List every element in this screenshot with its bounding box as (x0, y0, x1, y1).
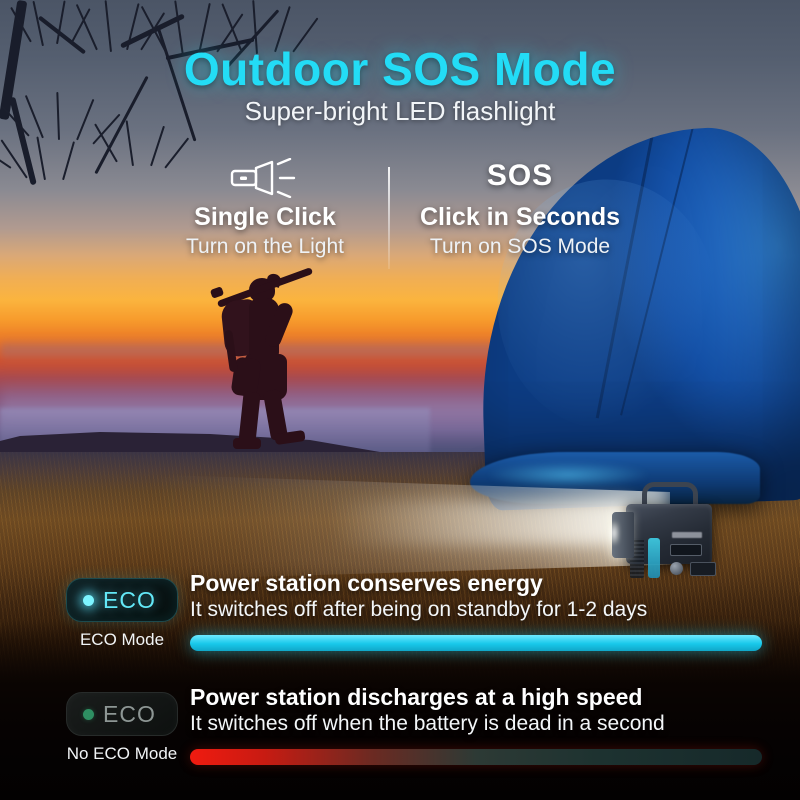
badge-label-text: ECO (103, 587, 156, 614)
discharge-progress-bar (190, 749, 762, 765)
station-body (626, 504, 712, 564)
eco-badge-caption: No ECO Mode (46, 744, 198, 764)
eco-progress-bar (190, 635, 762, 651)
eco-row-title: Power station discharges at a high speed (190, 684, 642, 711)
eco-mode-row: ECO ECO Mode Power station conserves ene… (0, 568, 800, 683)
station-led-lamp (612, 512, 634, 558)
led-beam-core (330, 500, 630, 546)
mode-sos-click: SOS Click in Seconds Turn on SOS Mode (370, 155, 670, 259)
station-brand-logo (672, 532, 702, 538)
eco-badge-caption: ECO Mode (46, 630, 198, 650)
sos-text-icon: SOS (370, 155, 670, 201)
eco-badge-off[interactable]: ECO (66, 692, 178, 736)
mode-instructions: Single Click Turn on the Light SOS Click… (0, 155, 800, 280)
mode-description: Turn on SOS Mode (370, 235, 670, 259)
status-dot-icon (83, 595, 94, 606)
portable-power-station (612, 482, 720, 566)
no-eco-mode-row: ECO No ECO Mode Power station discharges… (0, 682, 800, 797)
status-dot-icon (83, 709, 94, 720)
eco-badge-on[interactable]: ECO (66, 578, 178, 622)
hiker-silhouette (205, 272, 335, 454)
eco-row-title: Power station conserves energy (190, 570, 543, 597)
badge-label-text: ECO (103, 701, 156, 728)
station-display-screen (670, 544, 702, 556)
eco-row-description: It switches off after being on standby f… (190, 598, 647, 622)
product-feature-poster: Outdoor SOS Mode Super-bright LED flashl… (0, 0, 800, 800)
mode-heading: Click in Seconds (370, 203, 670, 232)
page-subtitle: Super-bright LED flashlight (0, 96, 800, 127)
page-title: Outdoor SOS Mode (0, 42, 800, 96)
eco-row-description: It switches off when the battery is dead… (190, 712, 665, 736)
